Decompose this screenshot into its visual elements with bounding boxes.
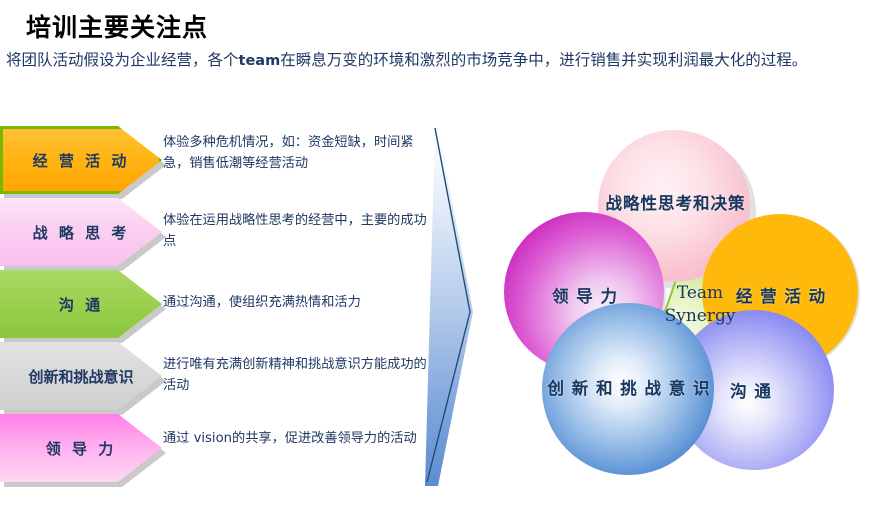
- focus-item-label: 经 营 活 动: [22, 150, 140, 171]
- synergy-center-line-1: Team: [644, 282, 756, 305]
- focus-item-label: 创新和挑战意识: [22, 366, 140, 387]
- focus-item-description: 体验多种危机情况，如：资金短缺，时间紧急，销售低潮等经营活动: [163, 132, 428, 174]
- circle-label: 沟 通: [730, 382, 772, 401]
- focus-item-row: 经 营 活 动 体验多种危机情况，如：资金短缺，时间紧急，销售低潮等经营活动: [0, 126, 440, 198]
- focus-item-description: 通过 vision的共享，促进改善领导力的活动: [163, 428, 428, 449]
- flow-arrow-body: [425, 126, 473, 486]
- focus-item-row: 领 导 力 通过 vision的共享，促进改善领导力的活动: [0, 414, 440, 486]
- circle-strategy-label-box: 战略性思考和决策: [593, 190, 758, 214]
- focus-item-description: 体验在运用战略性思考的经营中，主要的成功点: [163, 210, 428, 252]
- focus-item-row: 沟 通 通过沟通，使组织充满热情和活力: [0, 270, 440, 342]
- desc-part-1: 通过: [163, 431, 194, 446]
- synergy-center-line-2: Synergy: [644, 305, 756, 328]
- focus-item-list: 经 营 活 动 体验多种危机情况，如：资金短缺，时间紧急，销售低潮等经营活动 战…: [0, 126, 440, 486]
- circle-leadership-label-box: 领 导 力: [510, 283, 660, 307]
- focus-item-description: 进行唯有充满创新精神和挑战意识方能成功的活动: [163, 354, 428, 396]
- subtitle-part-2: 在瞬息万变的环境和激烈的市场竞争中，进行销售并实现利润最大化的过程。: [280, 51, 807, 69]
- page-title: 培训主要关注点: [26, 8, 208, 44]
- focus-item-label: 领 导 力: [22, 438, 140, 459]
- focus-item-label: 战 略 思 考: [22, 222, 140, 243]
- focus-item-description: 通过沟通，使组织充满热情和活力: [163, 292, 428, 313]
- slide-canvas: 培训主要关注点 将团队活动假设为企业经营，各个team在瞬息万变的环境和激烈的市…: [0, 0, 880, 511]
- circle-communication-label-box: 沟 通: [676, 378, 826, 402]
- desc-part-2: 的共享，促进改善领导力的活动: [232, 431, 417, 446]
- circle-label: 战略性思考和决策: [606, 194, 746, 213]
- page-subtitle: 将团队活动假设为企业经营，各个team在瞬息万变的环境和激烈的市场竞争中，进行销…: [6, 48, 874, 74]
- subtitle-latin-term: team: [239, 53, 281, 69]
- focus-item-row: 战 略 思 考 体验在运用战略性思考的经营中，主要的成功点: [0, 198, 440, 270]
- team-synergy-diagram: 战略性思考和决策 领 导 力 经 营 活 动 创 新 和 挑 战 意 识 沟 通: [468, 128, 880, 511]
- focus-item-label: 沟 通: [22, 294, 140, 315]
- subtitle-part-1: 将团队活动假设为企业经营，各个: [6, 51, 239, 69]
- desc-latin-term: vision: [194, 431, 232, 446]
- synergy-center-text: Team Synergy: [644, 282, 756, 328]
- circle-label: 领 导 力: [552, 287, 618, 306]
- focus-item-row: 创新和挑战意识 进行唯有充满创新精神和挑战意识方能成功的活动: [0, 342, 440, 414]
